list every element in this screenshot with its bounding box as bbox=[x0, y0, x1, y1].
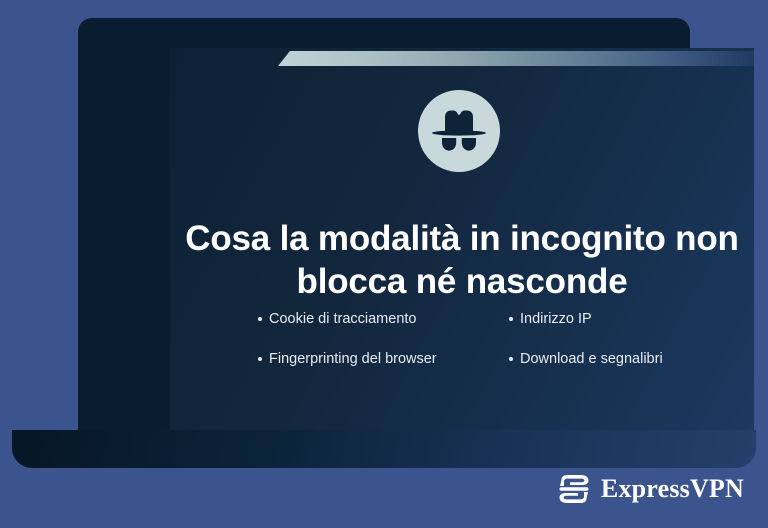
bullet-dot-icon bbox=[258, 357, 262, 361]
hat-crown-shape bbox=[445, 111, 473, 132]
incognito-icon bbox=[418, 90, 500, 172]
diagonal-accent-stripe bbox=[278, 51, 754, 66]
list-item: Download e segnalibri bbox=[509, 350, 708, 369]
bullet-column-right: Indirizzo IP Download e segnalibri bbox=[509, 310, 708, 369]
list-item-label: Cookie di tracciamento bbox=[269, 310, 417, 329]
bullet-dot-icon bbox=[509, 317, 513, 321]
slide-canvas: Cosa la modalità in incognito non blocca… bbox=[0, 0, 768, 528]
list-item-label: Indirizzo IP bbox=[520, 310, 592, 329]
list-item-label: Fingerprinting del browser bbox=[269, 350, 437, 369]
hat-brim-shape bbox=[432, 130, 486, 135]
sunglass-lens-right bbox=[462, 138, 476, 151]
page-title: Cosa la modalità in incognito non blocca… bbox=[178, 218, 746, 303]
laptop-base bbox=[12, 430, 756, 468]
bullet-list-area: Cookie di tracciamento Fingerprinting de… bbox=[258, 310, 708, 369]
bullet-column-left: Cookie di tracciamento Fingerprinting de… bbox=[258, 310, 457, 369]
expressvpn-logo-icon bbox=[557, 473, 591, 505]
list-item: Fingerprinting del browser bbox=[258, 350, 457, 369]
list-item: Indirizzo IP bbox=[509, 310, 708, 329]
laptop-lid: Cosa la modalità in incognito non blocca… bbox=[78, 18, 690, 430]
brand-logo: ExpressVPN bbox=[557, 473, 744, 505]
bullet-dot-icon bbox=[258, 317, 262, 321]
sunglass-lens-left bbox=[442, 138, 456, 151]
laptop-screen: Cosa la modalità in incognito non blocca… bbox=[170, 48, 754, 440]
list-item-label: Download e segnalibri bbox=[520, 350, 663, 369]
list-item: Cookie di tracciamento bbox=[258, 310, 457, 329]
brand-name-label: ExpressVPN bbox=[601, 476, 744, 502]
bullet-dot-icon bbox=[509, 357, 513, 361]
